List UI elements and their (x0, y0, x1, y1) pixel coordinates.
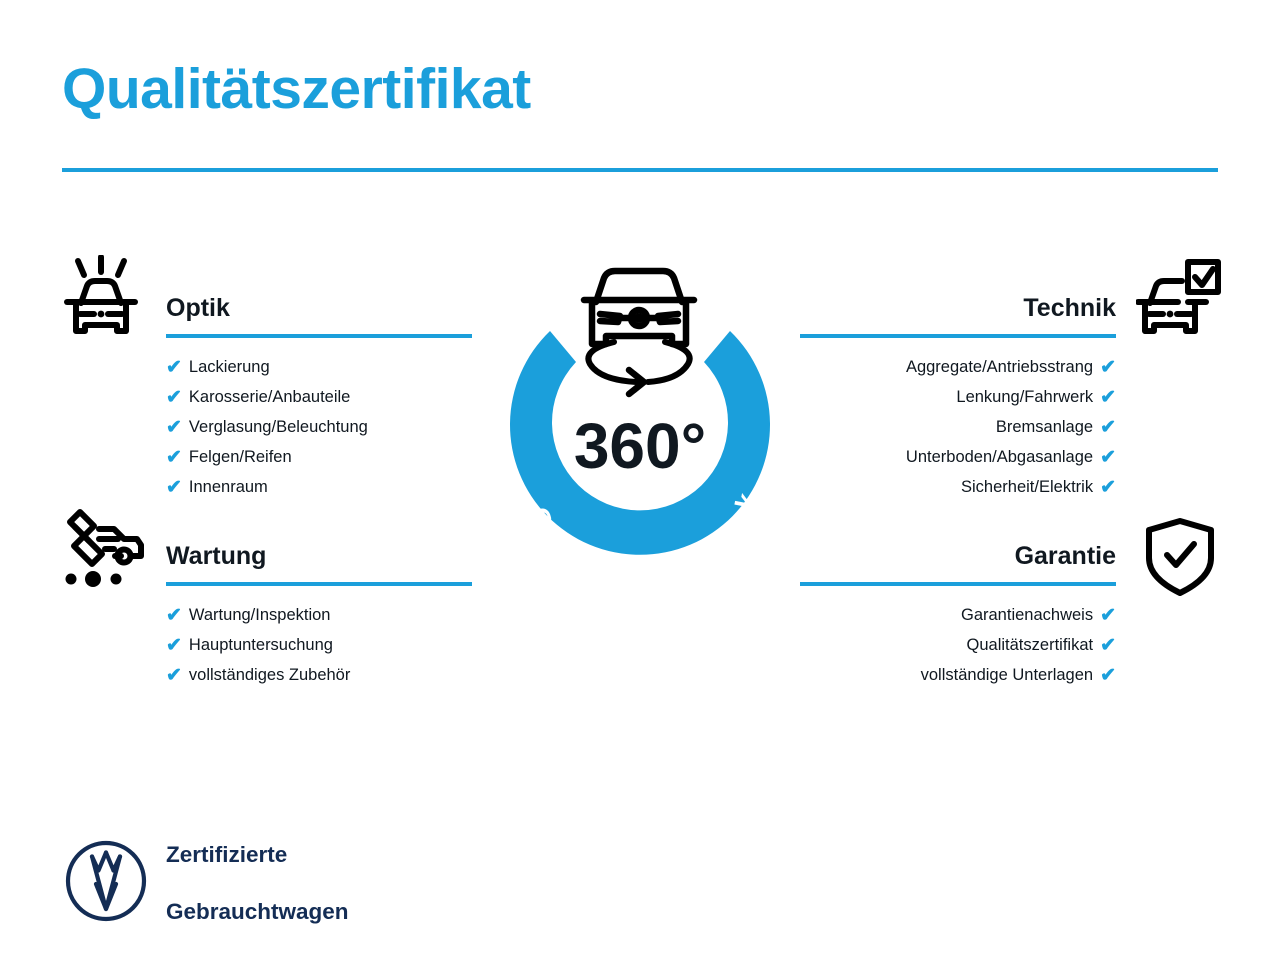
list-item: ✔Garantienachweis (800, 600, 1116, 630)
list-item-label: Lackierung (189, 352, 270, 382)
check-icon: ✔ (1100, 636, 1116, 655)
list-item-label: Qualitätszertifikat (967, 630, 1094, 660)
list-item-label: Lenkung/Fahrwerk (956, 382, 1093, 412)
badge-center-value: 360° (574, 410, 706, 482)
list-item: ✔Felgen/Reifen (166, 442, 472, 472)
section-wartung-title: Wartung (166, 540, 472, 572)
list-item: ✔Sicherheit/Elektrik (800, 472, 1116, 502)
list-item: ✔Wartung/Inspektion (166, 600, 472, 630)
check-icon: ✔ (166, 478, 182, 497)
list-item: ✔vollständige Unterlagen (800, 660, 1116, 690)
list-item-label: Verglasung/Beleuchtung (189, 412, 368, 442)
car-rotate-360-icon (584, 271, 694, 394)
badge-360-check: Gebrauchtwagen-Check 360° (466, 250, 814, 640)
list-item-label: Felgen/Reifen (189, 442, 292, 472)
list-item-label: Karosserie/Anbauteile (189, 382, 350, 412)
list-item-label: vollständiges Zubehör (189, 660, 350, 690)
check-icon: ✔ (1100, 418, 1116, 437)
section-garantie: Garantie ✔Garantienachweis ✔Qualitätszer… (800, 540, 1116, 690)
list-item: ✔Hauptuntersuchung (166, 630, 472, 660)
section-technik-divider (800, 334, 1116, 338)
car-front-shine-icon (62, 255, 140, 352)
check-icon: ✔ (1100, 358, 1116, 377)
footer-brand-line1: Zertifizierte (166, 841, 349, 870)
section-optik-header: Optik (166, 292, 472, 338)
section-garantie-header: Garantie (800, 540, 1116, 586)
check-icon: ✔ (166, 606, 182, 625)
section-optik-list: ✔Lackierung ✔Karosserie/Anbauteile ✔Verg… (166, 352, 472, 502)
list-item: ✔Lackierung (166, 352, 472, 382)
section-technik-list: ✔Aggregate/Antriebsstrang ✔Lenkung/Fahrw… (800, 352, 1116, 502)
section-wartung-list: ✔Wartung/Inspektion ✔Hauptuntersuchung ✔… (166, 600, 472, 690)
check-icon: ✔ (1100, 448, 1116, 467)
list-item: ✔Lenkung/Fahrwerk (800, 382, 1116, 412)
list-item-label: vollständige Unterlagen (921, 660, 1093, 690)
check-icon: ✔ (166, 418, 182, 437)
list-item: ✔Qualitätszertifikat (800, 630, 1116, 660)
list-item: ✔Aggregate/Antriebsstrang (800, 352, 1116, 382)
check-icon: ✔ (166, 358, 182, 377)
list-item-label: Sicherheit/Elektrik (961, 472, 1093, 502)
list-item: ✔Innenraum (166, 472, 472, 502)
check-icon: ✔ (166, 448, 182, 467)
header-divider (62, 168, 1218, 172)
list-item: ✔Verglasung/Beleuchtung (166, 412, 472, 442)
check-icon: ✔ (1100, 666, 1116, 685)
check-icon: ✔ (166, 666, 182, 685)
section-technik-title: Technik (800, 292, 1116, 324)
section-wartung-header: Wartung (166, 540, 472, 586)
section-technik-header: Technik (800, 292, 1116, 338)
list-item-label: Unterboden/Abgasanlage (906, 442, 1093, 472)
list-item-label: Garantienachweis (961, 600, 1093, 630)
section-optik-divider (166, 334, 472, 338)
pencil-car-service-icon (58, 505, 146, 598)
section-wartung-divider (166, 582, 472, 586)
section-wartung: Wartung ✔Wartung/Inspektion ✔Hauptunters… (166, 540, 472, 690)
list-item: ✔vollständiges Zubehör (166, 660, 472, 690)
car-front-checkbox-icon (1136, 258, 1222, 349)
page-title: Qualitätszertifikat (62, 58, 531, 121)
section-garantie-divider (800, 582, 1116, 586)
list-item-label: Wartung/Inspektion (189, 600, 331, 630)
check-icon: ✔ (1100, 388, 1116, 407)
vw-logo-icon (64, 839, 148, 928)
list-item-label: Bremsanlage (996, 412, 1093, 442)
check-icon: ✔ (166, 388, 182, 407)
check-icon: ✔ (1100, 606, 1116, 625)
list-item: ✔Unterboden/Abgasanlage (800, 442, 1116, 472)
list-item: ✔Karosserie/Anbauteile (166, 382, 472, 412)
section-garantie-list: ✔Garantienachweis ✔Qualitätszertifikat ✔… (800, 600, 1116, 690)
section-optik: Optik ✔Lackierung ✔Karosserie/Anbauteile… (166, 292, 472, 502)
list-item-label: Aggregate/Antriebsstrang (906, 352, 1093, 382)
check-icon: ✔ (166, 636, 182, 655)
footer-brand-text: Zertifizierte Gebrauchtwagen (166, 812, 349, 956)
check-icon: ✔ (1100, 478, 1116, 497)
footer-brand-lockup: Zertifizierte Gebrauchtwagen (64, 812, 349, 956)
list-item-label: Innenraum (189, 472, 268, 502)
section-technik: Technik ✔Aggregate/Antriebsstrang ✔Lenku… (800, 292, 1116, 502)
list-item: ✔Bremsanlage (800, 412, 1116, 442)
list-item-label: Hauptuntersuchung (189, 630, 333, 660)
footer-brand-line2: Gebrauchtwagen (166, 898, 349, 927)
section-garantie-title: Garantie (800, 540, 1116, 572)
shield-check-icon (1142, 516, 1218, 603)
section-optik-title: Optik (166, 292, 472, 324)
